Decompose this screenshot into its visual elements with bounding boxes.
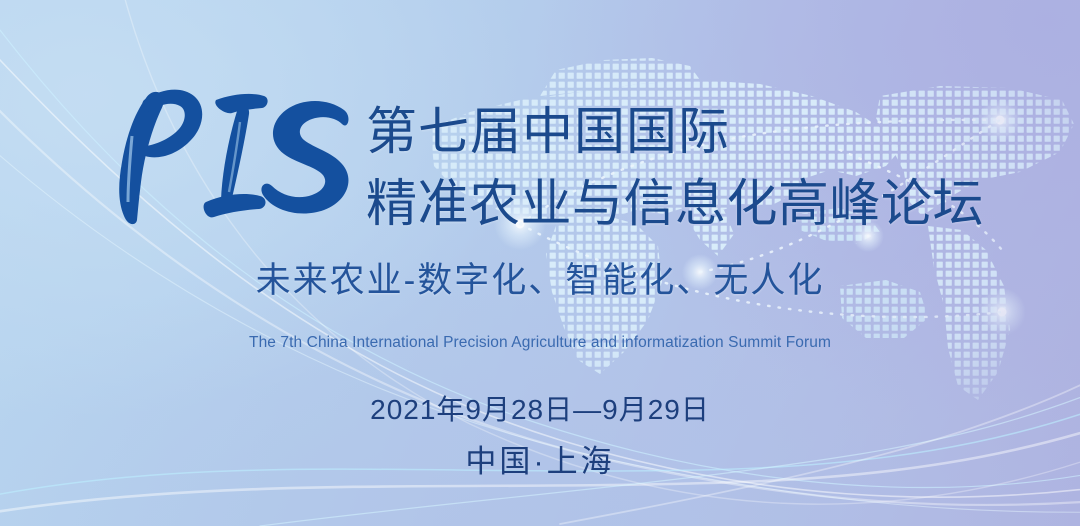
event-date: 2021年9月28日—9月29日 [0, 388, 1080, 428]
page-title: 第七届中国国际 精准农业与信息化高峰论坛 [366, 96, 1038, 240]
banner-content: 第七届中国国际 精准农业与信息化高峰论坛 未来农业-数字化、智能化、无人化 Th… [0, 0, 1080, 526]
pis-logo [88, 74, 363, 234]
english-title: The 7th China International Precision Ag… [0, 334, 1080, 352]
subtitle: 未来农业-数字化、智能化、无人化 [0, 258, 1080, 304]
title-line-1: 第七届中国国际 [366, 96, 1038, 168]
event-banner: 第七届中国国际 精准农业与信息化高峰论坛 未来农业-数字化、智能化、无人化 Th… [0, 0, 1080, 526]
event-location: 中国·上海 [0, 436, 1080, 481]
title-line-2: 精准农业与信息化高峰论坛 [366, 168, 1038, 240]
